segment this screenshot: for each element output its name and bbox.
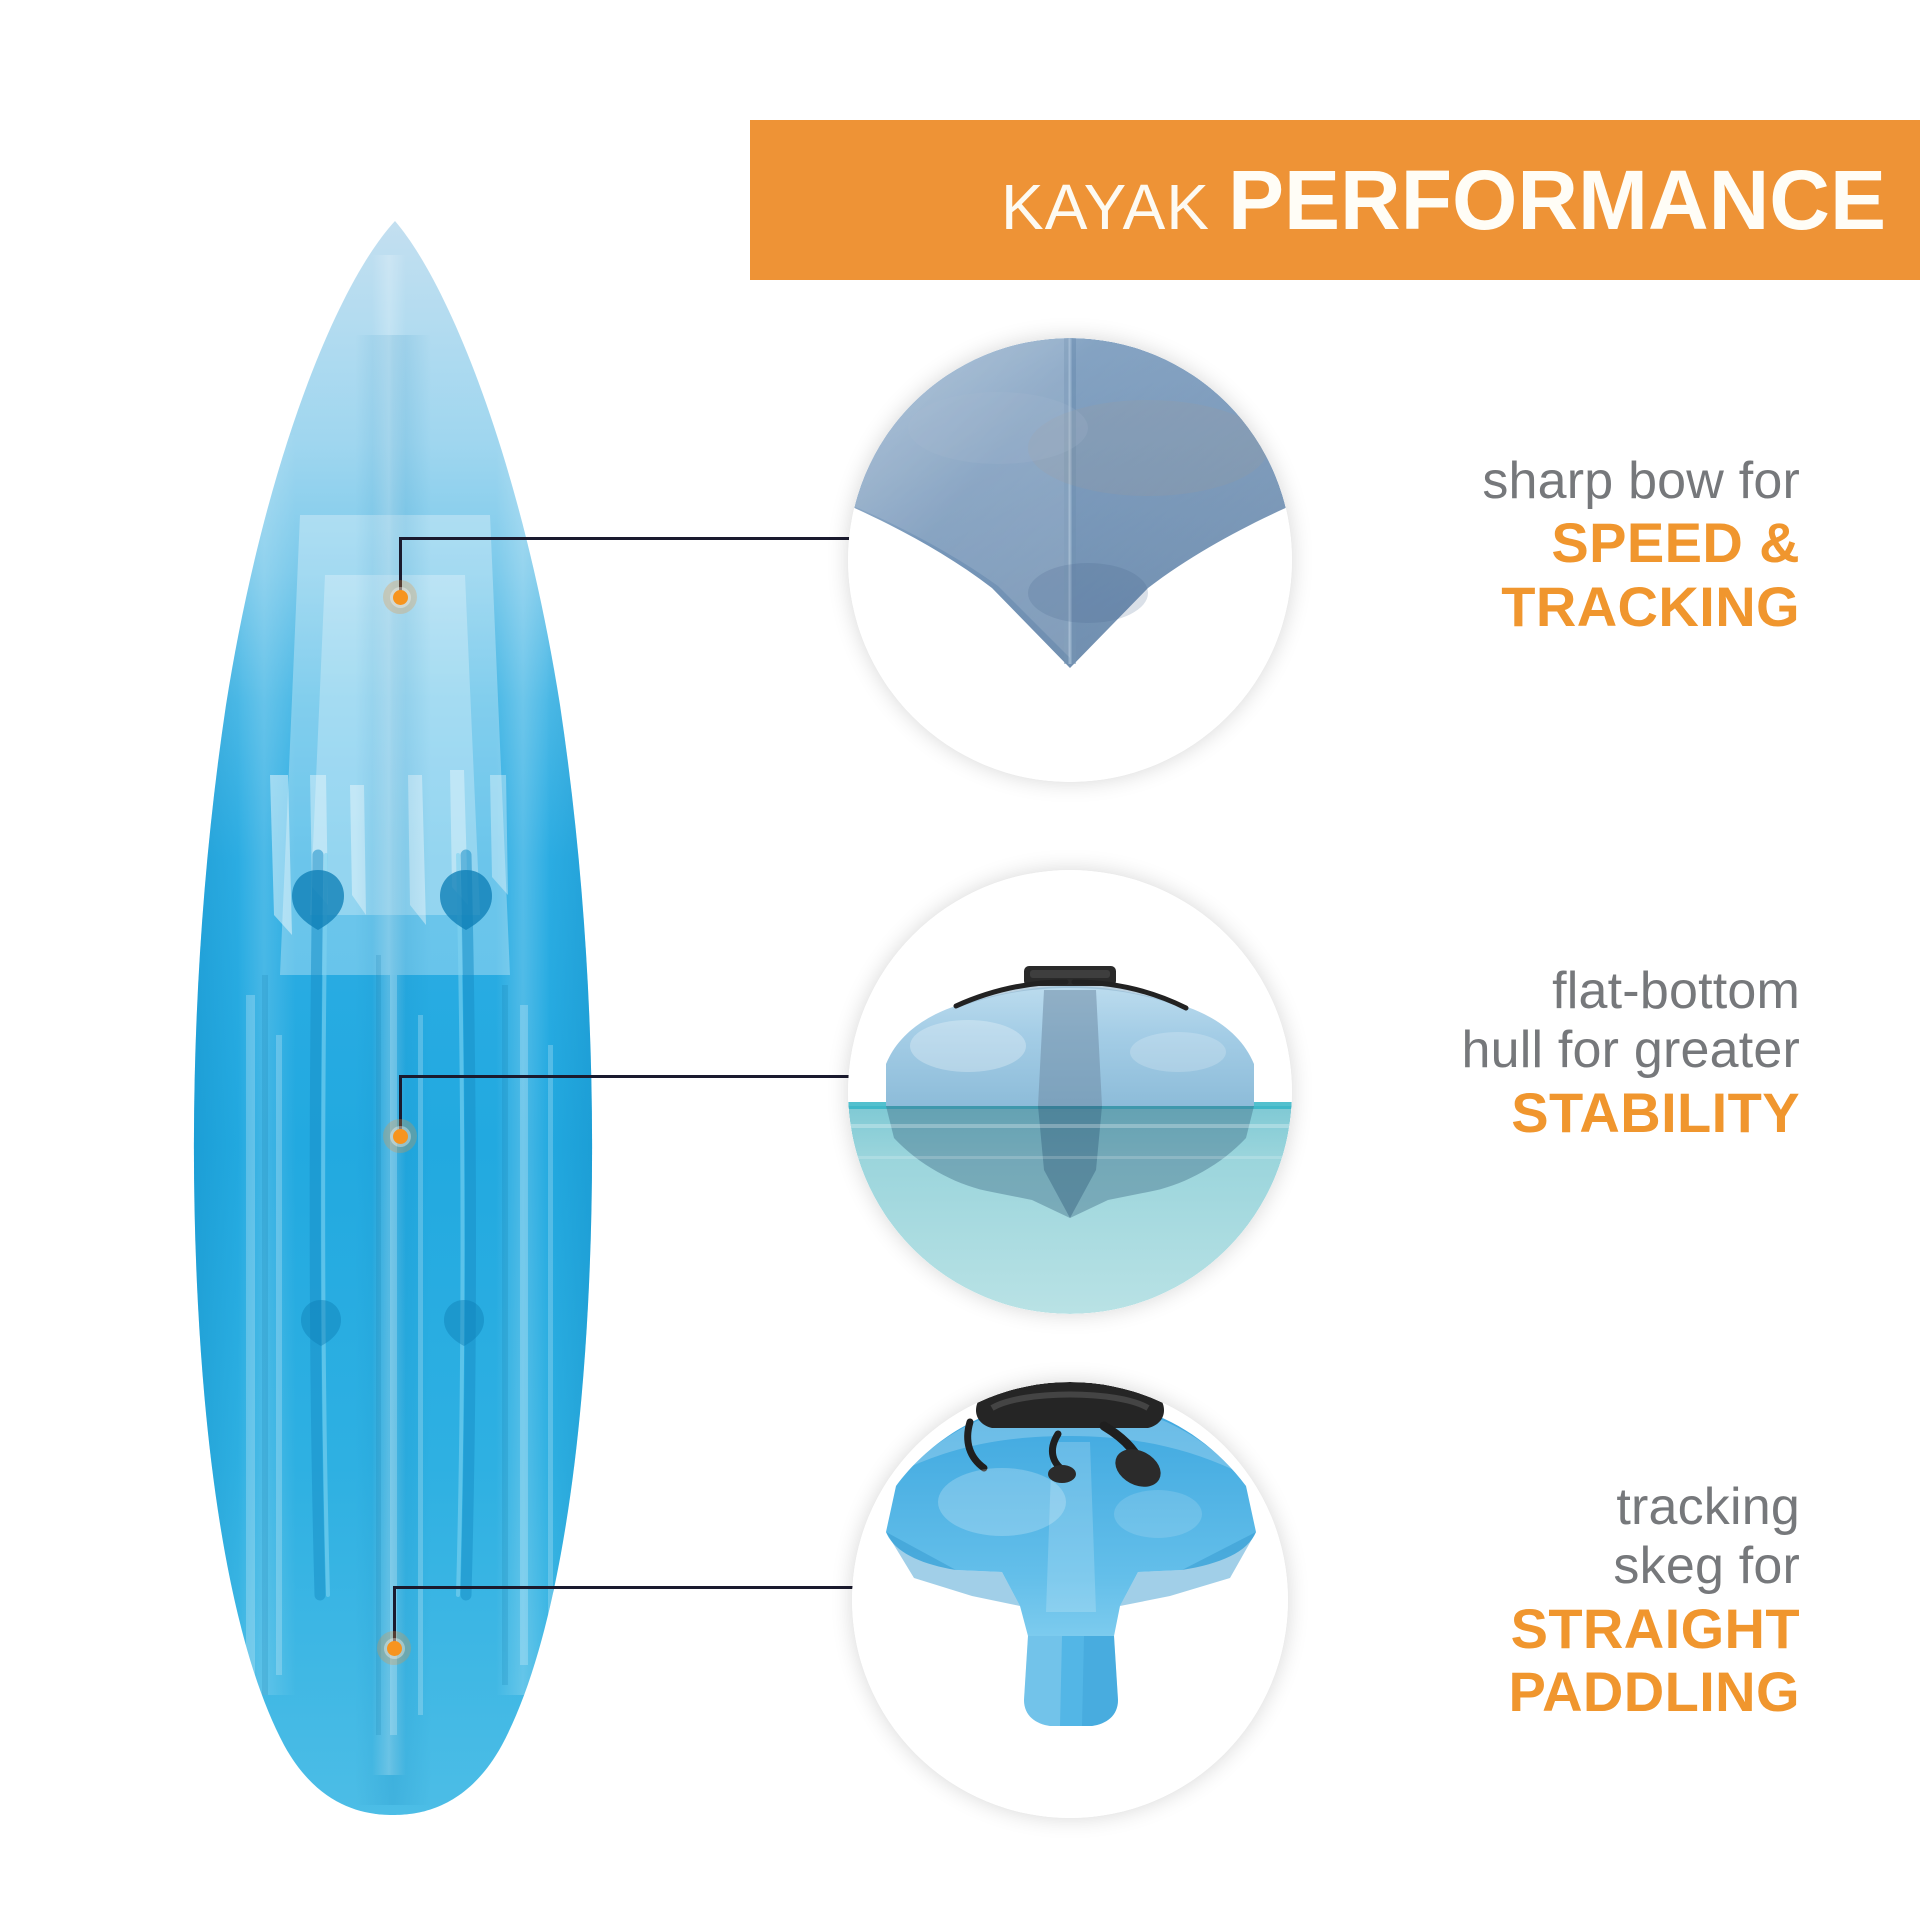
callout-strong-line: STRAIGHT — [1180, 1597, 1800, 1661]
callout-strong-line: PADDLING — [1180, 1660, 1800, 1724]
callout-plain-line: hull for greater — [1180, 1021, 1800, 1080]
hotspot-dot-stability[interactable] — [383, 1119, 417, 1153]
callout-plain-line: sharp bow for — [1180, 452, 1800, 511]
infographic-canvas: KAYAKPERFORMANCE — [0, 0, 1920, 1920]
banner-title-light: KAYAK — [1001, 171, 1210, 243]
callout-text-straight-paddling: tracking skeg for STRAIGHT PADDLING — [1180, 1478, 1800, 1724]
hotspot-dot-straight-paddling[interactable] — [377, 1631, 411, 1665]
kayak-hull-bottom-view — [150, 215, 630, 1815]
callout-strong-line: TRACKING — [1180, 575, 1800, 639]
callout-plain-line: skeg for — [1180, 1537, 1800, 1596]
kayak-performance-banner: KAYAKPERFORMANCE — [750, 120, 1920, 280]
callout-strong-line: STABILITY — [1180, 1081, 1800, 1145]
kayak-hull-details — [190, 255, 596, 1805]
callout-plain-line: tracking — [1180, 1478, 1800, 1537]
callout-text-speed-tracking: sharp bow for SPEED & TRACKING — [1180, 452, 1800, 639]
callout-text-stability: flat-bottom hull for greater STABILITY — [1180, 962, 1800, 1144]
hotspot-dot-speed-tracking[interactable] — [383, 580, 417, 614]
banner-title-bold: PERFORMANCE — [1228, 153, 1886, 247]
callout-plain-line: flat-bottom — [1180, 962, 1800, 1021]
kayak-hull-graphic — [150, 215, 630, 1815]
callout-strong-line: SPEED & — [1180, 511, 1800, 575]
banner-title: KAYAKPERFORMANCE — [1001, 158, 1886, 242]
